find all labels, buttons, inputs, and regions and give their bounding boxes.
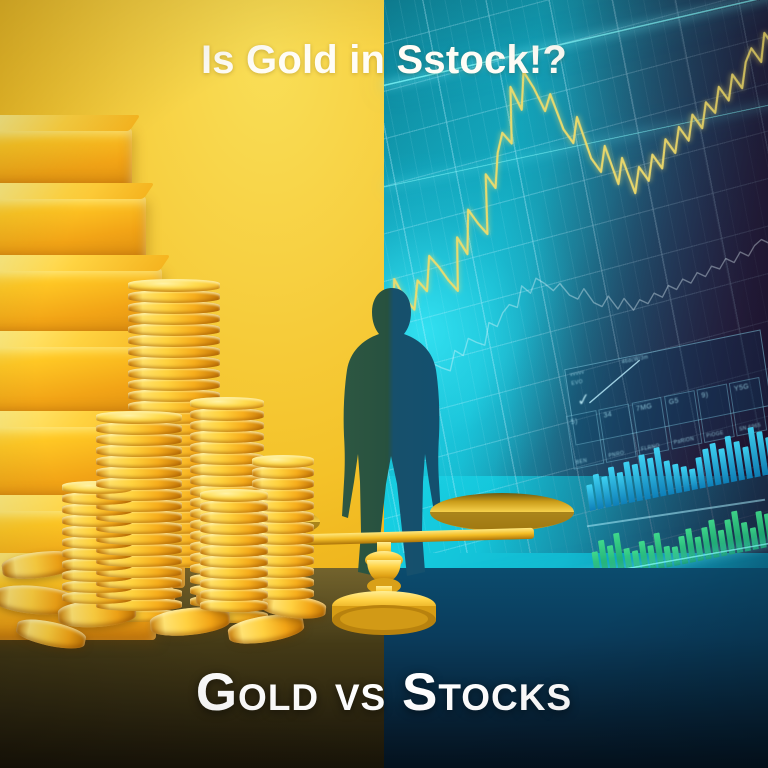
poster-canvas: vvvvv EVO 46dcW/3m ✓ 5)BEN34PNRO7MGFLRNO… (0, 0, 768, 768)
kpi-value: 34 (603, 411, 612, 420)
kpi-value: Y5G (734, 383, 750, 393)
kpi-value: G5 (669, 397, 680, 406)
kpi-cell: G5PaRiON (664, 390, 702, 449)
kpi-label: BEN (576, 457, 588, 465)
kpi-value: 5) (571, 417, 579, 425)
kpi-value: 9) (701, 391, 709, 399)
floor-gold-sheen (0, 568, 384, 644)
kpi-cell: 34PNRO (599, 403, 637, 462)
kpi-cell: 9)PiOGE (697, 383, 735, 442)
kpi-label: FLRNO (641, 442, 660, 452)
kpi-cell: 7MGFLRNO (632, 396, 670, 455)
kpi-label: PNRO (608, 450, 625, 459)
kpi-value: 7MG (636, 402, 653, 412)
kpi-label: PiOGE (706, 429, 724, 438)
page-title-top: Is Gold in Sstock!? (0, 38, 768, 83)
kpi-label: SN 6965 (739, 422, 762, 432)
kpi-cell: Y5GSN 6965 (729, 376, 767, 435)
kpi-label: PaRiON (674, 435, 695, 445)
kpi-cell: 5)BEN (566, 410, 604, 469)
page-title-bottom: Gold vs Stocks (0, 662, 768, 723)
